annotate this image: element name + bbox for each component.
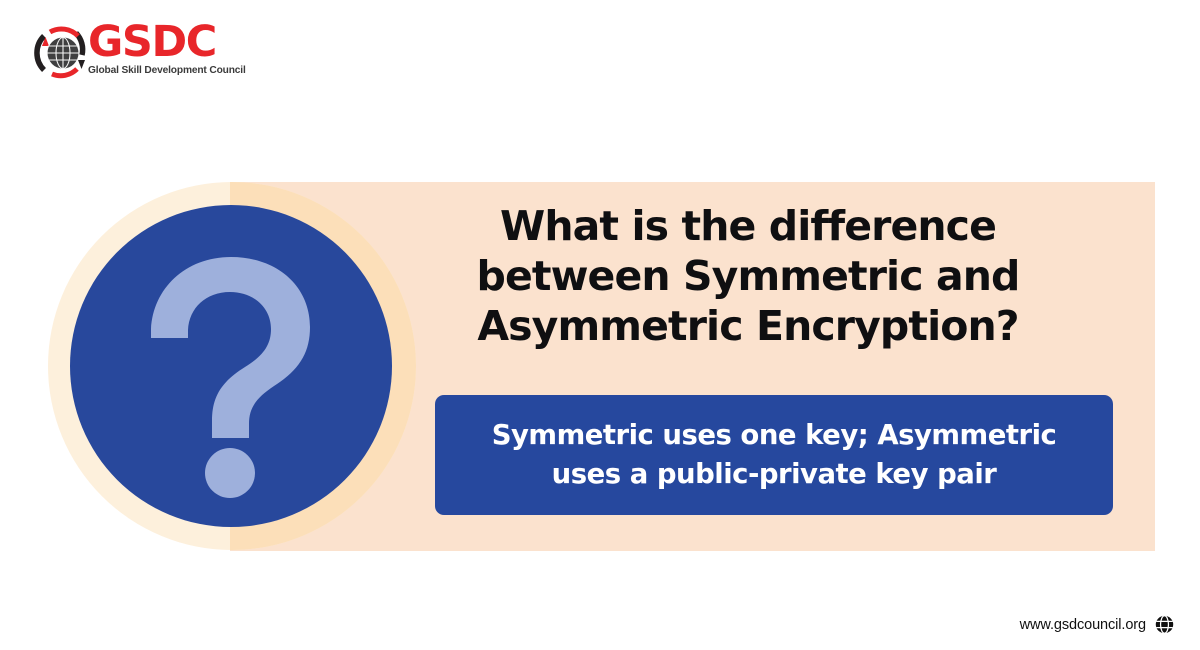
logo-tagline: Global Skill Development Council [88,65,266,76]
answer-text: Symmetric uses one key; Asymmetric uses … [454,416,1094,494]
logo-wordmark: GSDC Global Skill Development Council [88,20,266,76]
answer-box: Symmetric uses one key; Asymmetric uses … [435,395,1113,515]
footer-url[interactable]: www.gsdcouncil.org [1020,617,1146,633]
globe-icon [1155,615,1174,634]
globe-logo-icon [32,22,94,84]
question-mark-icon [70,205,392,527]
gsdc-logo[interactable]: GSDC Global Skill Development Council [32,16,262,86]
footer: www.gsdcouncil.org [1020,615,1174,634]
page-title: What is the difference between Symmetric… [398,201,1098,351]
logo-word: GSDC [88,20,266,64]
